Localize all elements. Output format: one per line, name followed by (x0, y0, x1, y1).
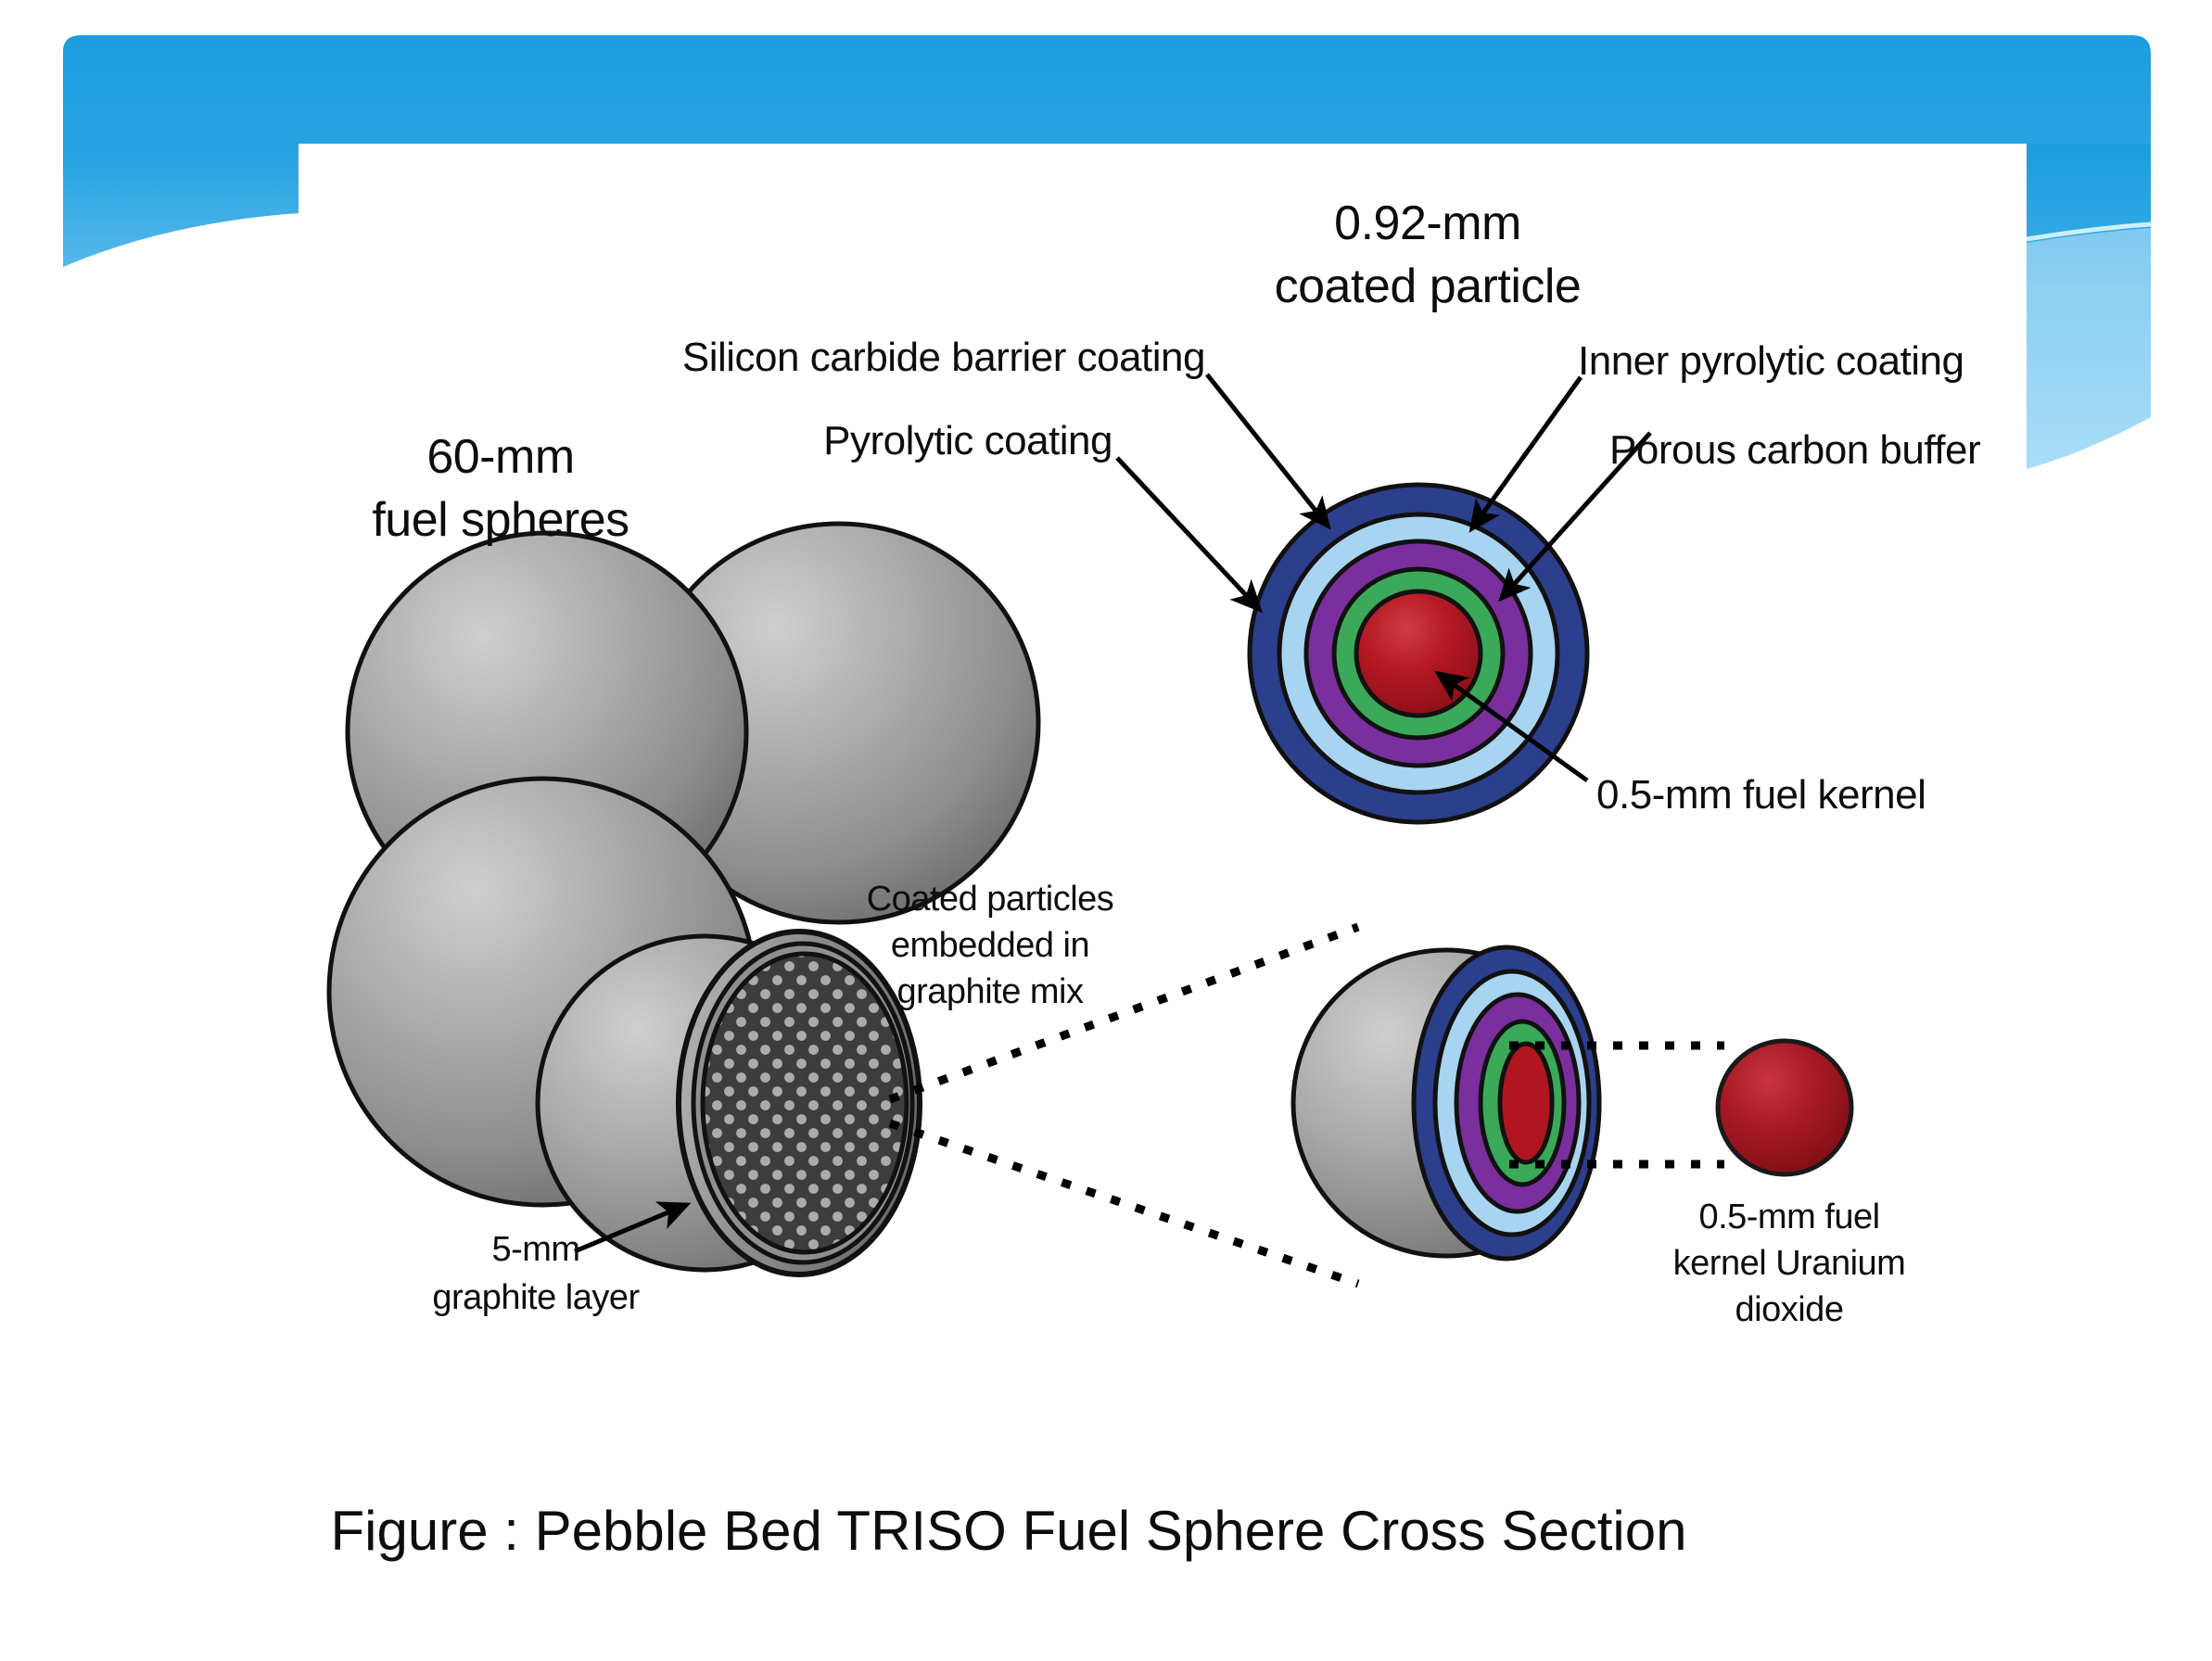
silicon-carbide-label: Silicon carbide barrier coating (682, 335, 1205, 380)
pyrolytic-coating-label: Pyrolytic coating (823, 418, 1112, 463)
graphite-layer-line1: 5-mm (491, 1230, 579, 1269)
arrow-pyrolytic (1117, 458, 1259, 609)
coated-embedded-line1: Coated particles (867, 880, 1114, 919)
kernel-uo2-line3: dioxide (1735, 1290, 1844, 1329)
coated-particle-mix-face (703, 954, 907, 1252)
arrow-inner-pyrolytic (1472, 377, 1581, 528)
porous-carbon-label: Porous carbon buffer (1609, 427, 1980, 473)
inner-pyrolytic-label: Inner pyrolytic coating (1578, 338, 1964, 384)
coated-particle-cross-section (1250, 485, 1587, 822)
kernel-uo2-line1: 0.5-mm fuel (1698, 1198, 1879, 1236)
figure-caption: Figure : Pebble Bed TRISO Fuel Sphere Cr… (331, 1500, 1687, 1562)
coated-particle-title-line2: coated particle (1275, 260, 1582, 313)
coated-embedded-line3: graphite mix (897, 972, 1084, 1011)
layer-fuel-kernel (1356, 591, 1481, 716)
graphite-layer-line2: graphite layer (432, 1278, 640, 1317)
cutaway-fuel-sphere (538, 932, 920, 1274)
slide-canvas: 0.92-mm coated particle 60-mm fuel spher… (0, 0, 2212, 1661)
fuel-spheres-label-line2: fuel spheres (372, 493, 629, 547)
triso-fuel-diagram: 0.92-mm coated particle 60-mm fuel spher… (0, 0, 2212, 1661)
kernel-uo2-line2: kernel Uranium (1673, 1244, 1906, 1283)
fuel-kernel-label: 0.5-mm fuel kernel (1596, 772, 1926, 818)
arrow-silicon-carbide (1207, 374, 1328, 526)
projection-line-bottom (890, 1123, 1358, 1284)
cutaway-layer-fuel-kernel (1500, 1044, 1552, 1162)
coated-embedded-line2: embedded in (891, 926, 1089, 965)
standalone-fuel-kernel-sphere (1718, 1041, 1851, 1174)
coated-particle-title-line1: 0.92-mm (1334, 197, 1521, 250)
cutaway-coated-particle (1293, 947, 1599, 1259)
fuel-spheres-label-line1: 60-mm (426, 430, 574, 484)
